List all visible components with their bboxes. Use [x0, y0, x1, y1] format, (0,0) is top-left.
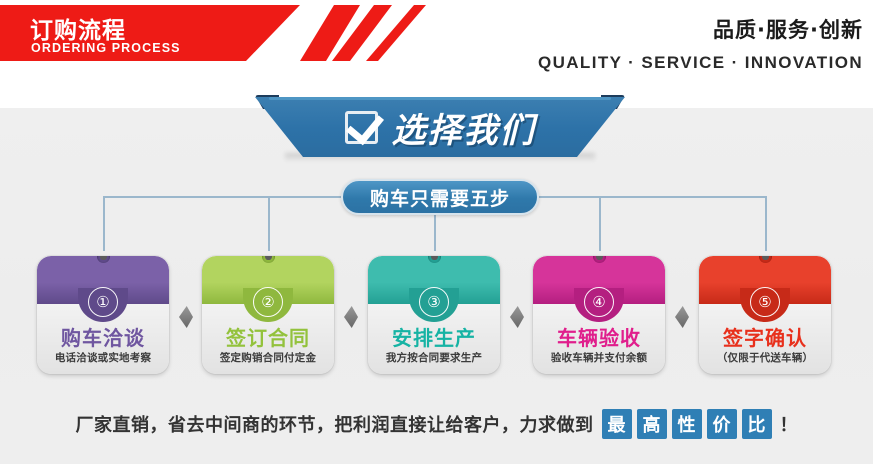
slogan-chinese: 品质·服务·创新: [538, 14, 863, 44]
ribbon-highlight-line: [269, 97, 611, 100]
header-slogan: 品质·服务·创新 QUALITY · SERVICE · INNOVATION: [538, 14, 863, 73]
connector-vertical: [599, 196, 601, 251]
header-banner-subtitle: ORDERING PROCESS: [31, 41, 181, 55]
slogan-english: QUALITY · SERVICE · INNOVATION: [538, 53, 863, 73]
grommet-hole: [100, 256, 106, 260]
step-number-badge: ③: [419, 287, 449, 317]
connector-vertical: [103, 196, 105, 251]
step-number-badge: ①: [88, 287, 118, 317]
step-card-title: 车辆验收: [533, 322, 665, 351]
step-card-2[interactable]: ②签订合同签定购销合同付定金: [202, 256, 334, 374]
step-card-title: 安排生产: [368, 322, 500, 351]
footer-lead-text: 厂家直销，省去中间商的环节，把利润直接让给客户，力求做到: [76, 411, 594, 437]
step-number-badge: ④: [584, 287, 614, 317]
footer-highlight-char-1: 最: [602, 409, 632, 439]
step-card-4[interactable]: ④车辆验收验收车辆并支付余额: [533, 256, 665, 374]
five-steps-pill-label: 购车只需要五步: [370, 184, 510, 211]
step-card-description: 签定购销合同付定金: [202, 350, 334, 365]
checkbox-checked-icon: [345, 111, 378, 144]
step-number-badge: ②: [253, 287, 283, 317]
step-card-title: 签订合同: [202, 322, 334, 351]
header-banner-title: 订购流程: [30, 11, 126, 45]
footer-tagline: 厂家直销，省去中间商的环节，把利润直接让给客户，力求做到 最高性价比 ！: [0, 404, 873, 444]
step-card-description: 验收车辆并支付余额: [533, 350, 665, 365]
step-card-description: 电话洽谈或实地考察: [37, 350, 169, 365]
connector-vertical: [268, 196, 270, 251]
connector-horizontal: [539, 196, 765, 198]
grommet-hole: [265, 256, 271, 260]
ordering-process-infographic: 订购流程 ORDERING PROCESS 品质·服务·创新 QUALITY ·…: [0, 0, 873, 464]
footer-highlight-char-2: 高: [637, 409, 667, 439]
footer-highlight-char-3: 性: [672, 409, 702, 439]
step-card-description: （仅限于代送车辆）: [699, 350, 831, 365]
footer-exclamation: ！: [780, 411, 798, 437]
connector-vertical: [765, 196, 767, 251]
footer-highlight-char-5: 比: [742, 409, 772, 439]
grommet-hole: [431, 256, 437, 260]
step-card-5[interactable]: ⑤签字确认（仅限于代送车辆）: [699, 256, 831, 374]
step-card-1[interactable]: ①购车洽谈电话洽谈或实地考察: [37, 256, 169, 374]
footer-highlight-char-4: 价: [707, 409, 737, 439]
grommet-hole: [762, 256, 768, 260]
connector-horizontal: [103, 196, 341, 198]
choose-us-ribbon: 选择我们: [255, 95, 625, 161]
grommet-hole: [596, 256, 602, 260]
step-card-description: 我方按合同要求生产: [368, 350, 500, 365]
step-card-title: 签字确认: [699, 322, 831, 351]
ribbon-label: 选择我们: [392, 103, 536, 152]
step-number-badge: ⑤: [750, 287, 780, 317]
five-steps-pill: 购车只需要五步: [341, 179, 539, 215]
step-card-3[interactable]: ③安排生产我方按合同要求生产: [368, 256, 500, 374]
step-card-title: 购车洽谈: [37, 322, 169, 351]
footer-highlight-group: 最高性价比: [602, 409, 772, 439]
